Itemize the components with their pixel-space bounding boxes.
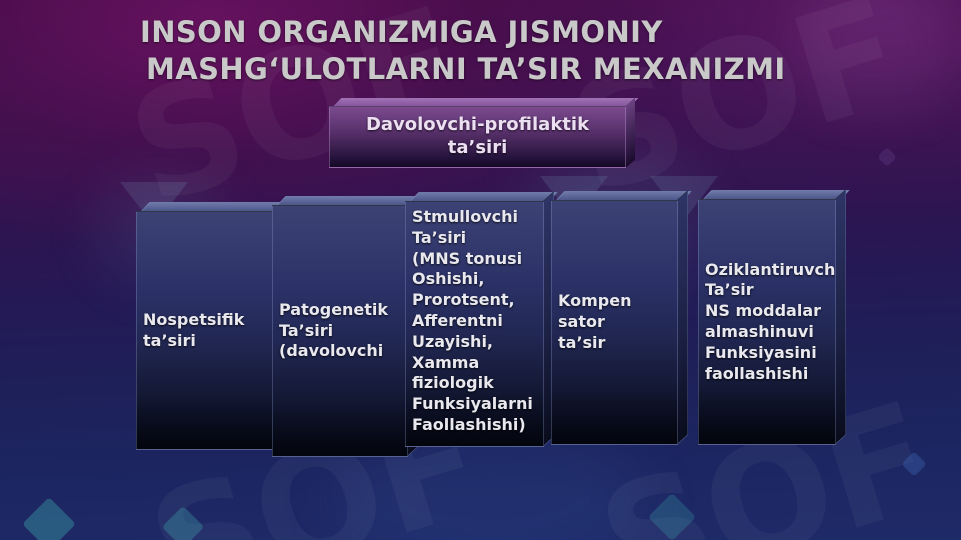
presentation-slide: SOF SOF SOF SOF INSON ORGANIZMIGA JISMON… [0, 0, 961, 540]
box-label-kompensator: Kompen sator ta’sir [552, 291, 635, 353]
box-front-face: Oziklantiruvchi Ta’sir NS moddalar almas… [698, 199, 836, 445]
box-front-face: Kompen sator ta’sir [551, 200, 678, 445]
box-label-nospetsifik: Nospetsifik ta’siri [137, 310, 248, 352]
diamond-shape [162, 506, 204, 540]
header-box-label: Davolovchi-profilaktik ta’siri [366, 114, 589, 159]
header-box-front-face: Davolovchi-profilaktik ta’siri [329, 106, 626, 168]
box-label-patogenetik: Patogenetik Ta’siri (davolovchi [273, 300, 392, 362]
header-box-side-face [625, 97, 635, 168]
box-front-face: Nospetsifik ta’siri [136, 211, 276, 450]
box-oziklantiruvchi[interactable]: Oziklantiruvchi Ta’sir NS moddalar almas… [698, 199, 836, 445]
diamond-shape [22, 497, 76, 540]
box-patogenetik[interactable]: Patogenetik Ta’siri (davolovchi [272, 205, 408, 457]
box-side-face [677, 190, 688, 445]
box-label-oziklantiruvchi: Oziklantiruvchi Ta’sir NS moddalar almas… [699, 260, 836, 385]
box-label-stmullovchi: Stmullovchi Ta’siri (MNS tonusi Oshishi,… [406, 202, 537, 436]
box-nospetsifik[interactable]: Nospetsifik ta’siri [136, 211, 276, 450]
diamond-shape [877, 147, 897, 167]
diamond-shape [901, 451, 926, 476]
box-stmullovchi[interactable]: Stmullovchi Ta’siri (MNS tonusi Oshishi,… [405, 201, 544, 447]
box-front-face: Stmullovchi Ta’siri (MNS tonusi Oshishi,… [405, 201, 544, 447]
slide-title: INSON ORGANIZMIGA JISMONIY MASHG‘ULOTLAR… [140, 14, 840, 88]
box-kompensator[interactable]: Kompen sator ta’sir [551, 200, 678, 445]
diamond-shape [648, 493, 696, 540]
slide-title-line-1: INSON ORGANIZMIGA JISMONIY [140, 14, 840, 51]
box-side-face [835, 189, 846, 445]
box-front-face: Patogenetik Ta’siri (davolovchi [272, 205, 408, 457]
slide-title-line-2: MASHG‘ULOTLARNI TA’SIR MEXANIZMI [140, 51, 840, 88]
header-box-davolovchi-profilaktik[interactable]: Davolovchi-profilaktik ta’siri [329, 106, 626, 168]
